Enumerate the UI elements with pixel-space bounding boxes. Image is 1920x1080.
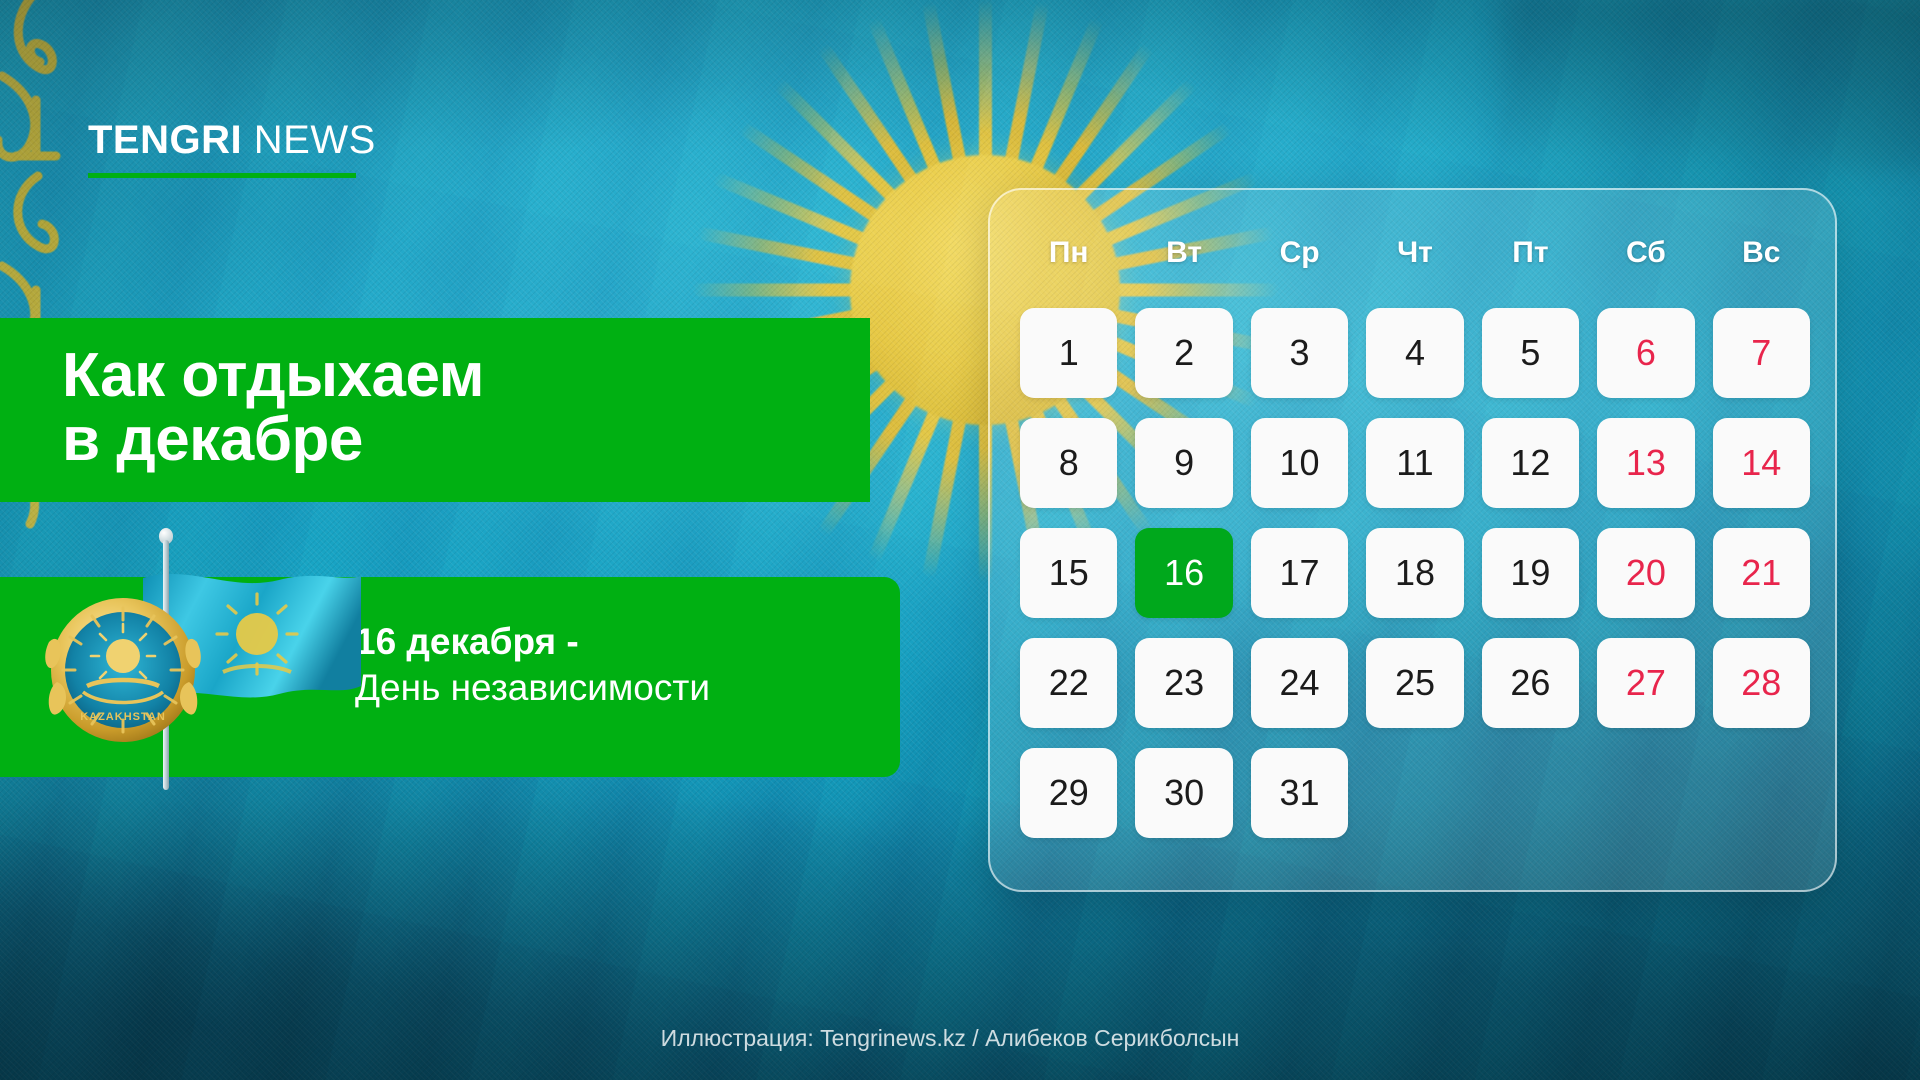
calendar-day-cell[interactable]: 8	[1020, 418, 1117, 508]
calendar-dow-header: Чт	[1366, 238, 1463, 288]
calendar-day-cell[interactable]: 22	[1020, 638, 1117, 728]
calendar-day-cell[interactable]: 27	[1597, 638, 1694, 728]
calendar-cell-empty	[1597, 748, 1694, 838]
svg-text:KAZAKHSTAN: KAZAKHSTAN	[80, 711, 166, 723]
calendar-day-cell[interactable]: 24	[1251, 638, 1348, 728]
calendar-dow-header: Ср	[1251, 238, 1348, 288]
logo-wordmark: TENGRI NEWS	[88, 120, 358, 160]
calendar-day-cell[interactable]: 7	[1713, 308, 1810, 398]
calendar-day-cell[interactable]: 9	[1135, 418, 1232, 508]
calendar-cell-empty	[1482, 748, 1579, 838]
calendar-cell-empty	[1713, 748, 1810, 838]
calendar-cell-holiday[interactable]: 16	[1135, 528, 1232, 618]
calendar-day-cell[interactable]: 13	[1597, 418, 1694, 508]
flag-corner-shadow	[1500, 0, 1920, 170]
holiday-banner-text: 16 декабря - День независимости	[355, 619, 710, 712]
logo-bold-text: TENGRI	[88, 118, 242, 162]
logo-light-text: NEWS	[254, 118, 376, 162]
calendar-dow-header: Пт	[1482, 238, 1579, 288]
calendar-day-cell[interactable]: 15	[1020, 528, 1117, 618]
calendar-day-cell[interactable]: 31	[1251, 748, 1348, 838]
calendar-day-cell[interactable]: 21	[1713, 528, 1810, 618]
calendar-dow-header: Вс	[1713, 238, 1810, 288]
calendar-day-cell[interactable]: 26	[1482, 638, 1579, 728]
calendar-day-cell[interactable]: 30	[1135, 748, 1232, 838]
logo-underline	[88, 173, 356, 178]
calendar-day-cell[interactable]: 29	[1020, 748, 1117, 838]
infographic-canvas: TENGRI NEWS Как отдыхаем в декабре 16 де…	[0, 0, 1920, 1080]
holiday-name-label: День независимости	[355, 665, 710, 711]
calendar-day-cell[interactable]: 3	[1251, 308, 1348, 398]
kazakhstan-emblem-icon: KAZAKHSTAN	[43, 590, 203, 750]
holiday-date-label: 16 декабря -	[355, 619, 710, 665]
calendar-day-cell[interactable]: 28	[1713, 638, 1810, 728]
calendar-day-cell[interactable]: 10	[1251, 418, 1348, 508]
calendar-day-cell[interactable]: 5	[1482, 308, 1579, 398]
calendar-day-cell[interactable]: 1	[1020, 308, 1117, 398]
calendar-dow-header: Сб	[1597, 238, 1694, 288]
calendar-cell-empty	[1366, 748, 1463, 838]
headline-line-2: в декабре	[62, 408, 870, 472]
emblem-and-flag: KAZAKHSTAN	[35, 520, 355, 790]
calendar-day-cell[interactable]: 23	[1135, 638, 1232, 728]
calendar-day-cell[interactable]: 14	[1713, 418, 1810, 508]
headline-line-1: Как отдыхаем	[62, 344, 870, 408]
calendar-day-cell[interactable]: 4	[1366, 308, 1463, 398]
calendar-day-cell[interactable]: 11	[1366, 418, 1463, 508]
calendar-day-cell[interactable]: 6	[1597, 308, 1694, 398]
headline-banner: Как отдыхаем в декабре	[0, 318, 870, 502]
calendar-day-cell[interactable]: 18	[1366, 528, 1463, 618]
calendar-grid: ПнВтСрЧтПтСбВс12345678910111213141516171…	[1020, 238, 1810, 838]
calendar-day-cell[interactable]: 12	[1482, 418, 1579, 508]
tengrinews-logo[interactable]: TENGRI NEWS	[88, 120, 358, 178]
calendar-day-cell[interactable]: 25	[1366, 638, 1463, 728]
calendar-day-cell[interactable]: 19	[1482, 528, 1579, 618]
calendar-day-cell[interactable]: 17	[1251, 528, 1348, 618]
illustration-credit: Иллюстрация: Tengrinews.kz / Алибеков Се…	[0, 1025, 1920, 1052]
calendar-dow-header: Вт	[1135, 238, 1232, 288]
calendar-day-cell[interactable]: 2	[1135, 308, 1232, 398]
calendar-day-cell[interactable]: 20	[1597, 528, 1694, 618]
calendar-dow-header: Пн	[1020, 238, 1117, 288]
